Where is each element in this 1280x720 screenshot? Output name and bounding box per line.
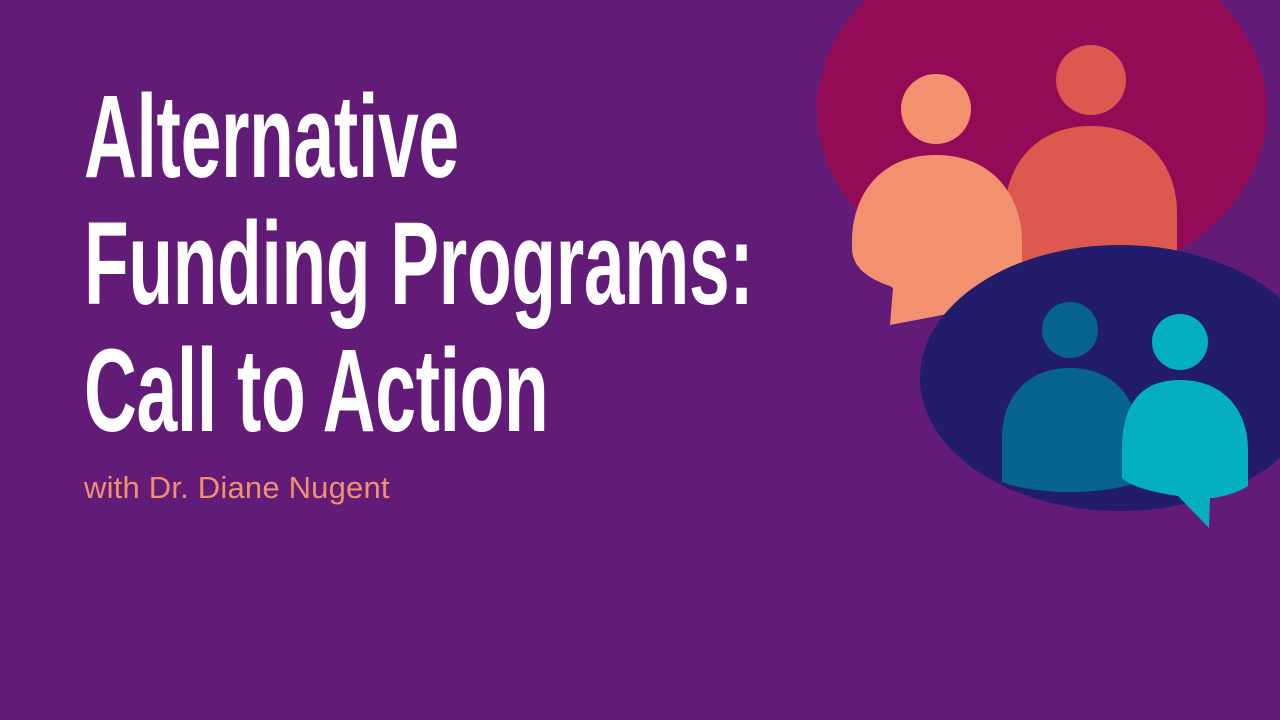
title-line-2: Funding Programs: bbox=[84, 201, 555, 328]
person-large-body bbox=[1005, 126, 1177, 297]
title-line-1: Alternative bbox=[84, 74, 555, 201]
lower-speech-bubble-group bbox=[920, 245, 1280, 528]
person-left-head bbox=[1042, 302, 1098, 358]
person-left-body bbox=[1002, 368, 1138, 492]
person-right-cyan bbox=[1122, 314, 1248, 528]
slide-text-block: Alternative Funding Programs: Call to Ac… bbox=[84, 74, 844, 455]
person-small-left-salmon bbox=[852, 74, 1022, 325]
person-small-body-with-tail bbox=[852, 155, 1022, 325]
person-left-teal bbox=[1002, 302, 1138, 492]
speech-bubbles-illustration bbox=[780, 0, 1280, 540]
lower-bubble-shape bbox=[920, 245, 1280, 511]
person-right-head bbox=[1152, 314, 1208, 370]
page-subtitle: with Dr. Diane Nugent bbox=[84, 469, 390, 507]
page-title: Alternative Funding Programs: Call to Ac… bbox=[84, 74, 555, 455]
person-large-right-coral bbox=[1005, 45, 1177, 297]
title-line-3: Call to Action bbox=[84, 328, 555, 455]
person-right-body-with-tail bbox=[1122, 380, 1248, 528]
person-small-head bbox=[901, 74, 971, 144]
title-slide: Alternative Funding Programs: Call to Ac… bbox=[0, 0, 1280, 720]
upper-bubble-shape bbox=[817, 0, 1267, 287]
person-large-head bbox=[1056, 45, 1126, 115]
upper-speech-bubble-group bbox=[817, 0, 1267, 325]
